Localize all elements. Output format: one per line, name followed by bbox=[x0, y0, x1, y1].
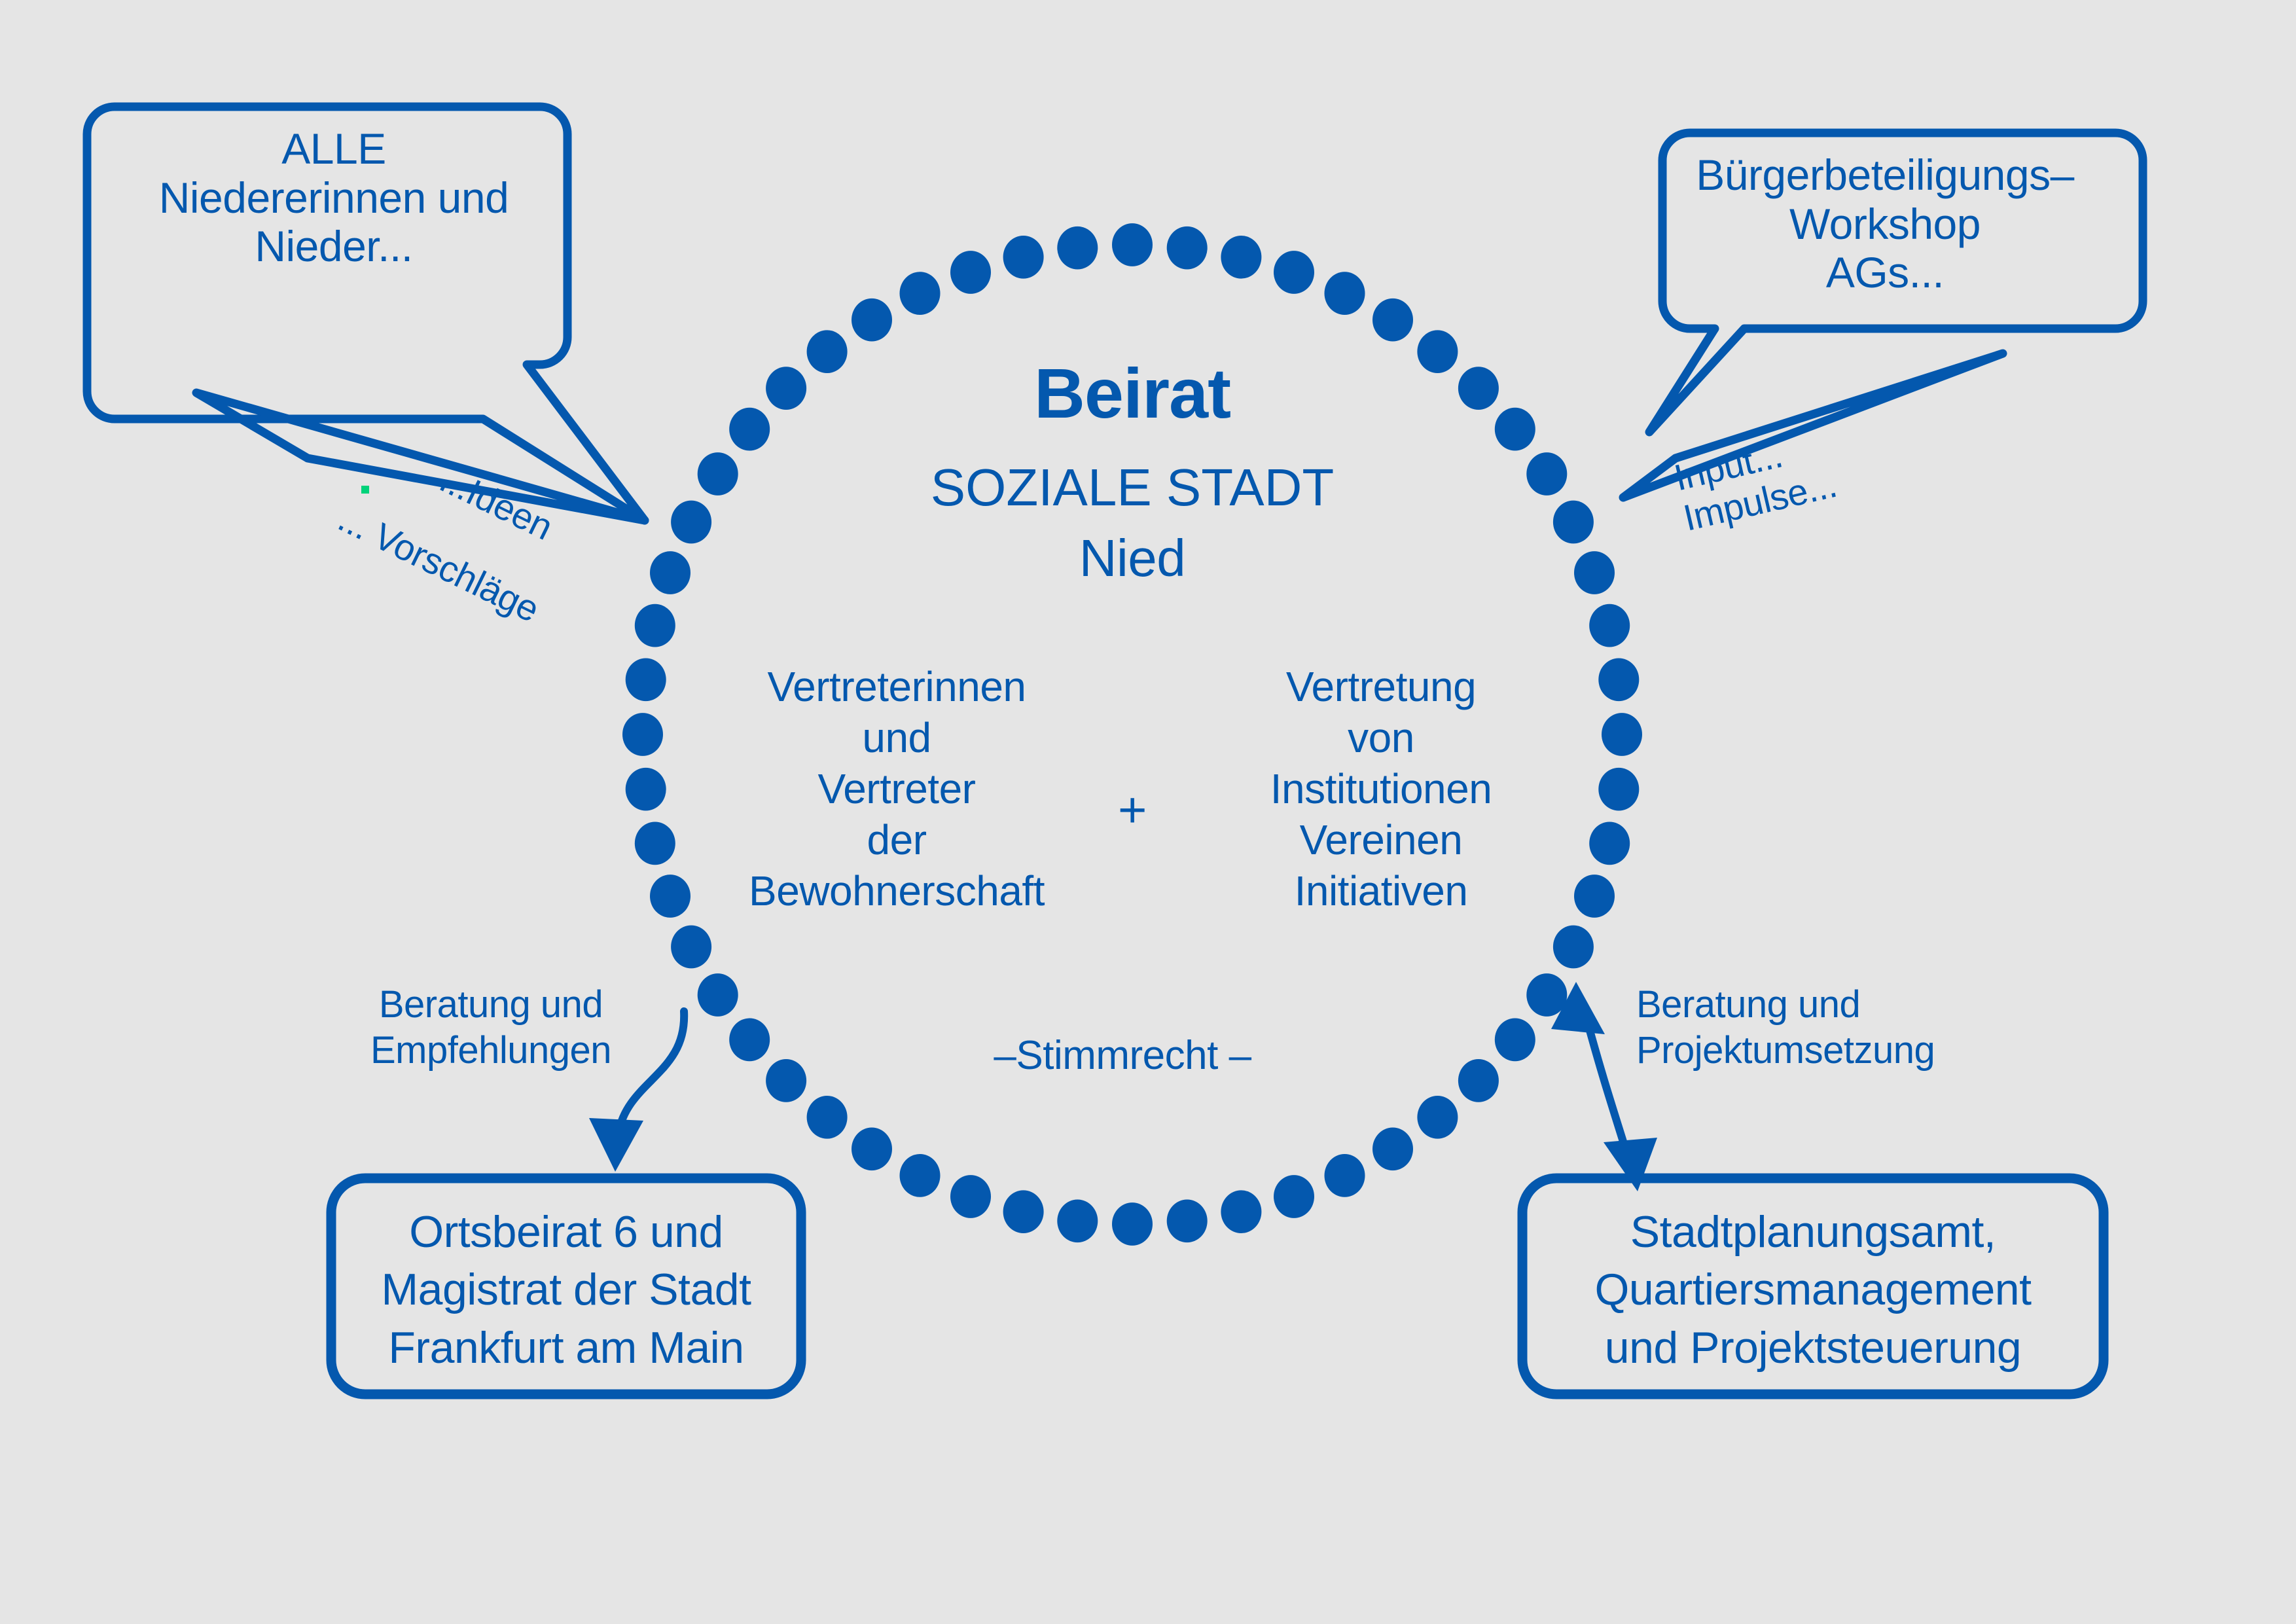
ring-dot bbox=[1221, 236, 1261, 279]
ring-dot bbox=[729, 1019, 770, 1062]
ring-dot bbox=[650, 551, 691, 594]
ring-dot bbox=[1221, 1190, 1261, 1233]
ring-dot bbox=[729, 408, 770, 451]
ring-dot bbox=[622, 713, 663, 756]
ring-dot bbox=[626, 658, 666, 701]
page-title: Beirat bbox=[805, 353, 1460, 433]
ring-dot bbox=[1003, 236, 1044, 279]
ring-dot bbox=[626, 768, 666, 811]
arrow-label-beratung-projektumsetzung: Beratung und Projektumsetzung bbox=[1636, 982, 1990, 1073]
ring-dot bbox=[698, 452, 738, 496]
ring-dot bbox=[766, 367, 806, 410]
ring-dot bbox=[1372, 298, 1413, 342]
ring-dot bbox=[1417, 1096, 1458, 1139]
green-square-marker bbox=[361, 486, 369, 494]
ring-dot bbox=[900, 1154, 941, 1197]
ring-dot bbox=[766, 1059, 806, 1102]
ring-dot bbox=[807, 1096, 848, 1139]
ring-dot bbox=[852, 1127, 892, 1170]
ring-dot bbox=[1589, 822, 1630, 865]
ring-dot bbox=[1325, 1154, 1365, 1197]
bubble-right-label: Bürgerbeteiligungs– Workshop AGs... bbox=[1662, 151, 2108, 297]
ring-dot bbox=[1526, 973, 1567, 1017]
ring-dot bbox=[1325, 272, 1365, 315]
ring-dot bbox=[1553, 926, 1594, 969]
bubble-left-label: ALLE Niedererinnen und Nieder... bbox=[98, 124, 569, 271]
circle-subtitle-line1: SOZIALE STADT bbox=[805, 458, 1460, 517]
arrow-label-beratung-empfehlungen: Beratung und Empfehlungen bbox=[340, 982, 641, 1073]
ring-dot bbox=[900, 272, 941, 315]
ring-dot bbox=[1589, 604, 1630, 647]
ring-dot bbox=[1167, 1199, 1208, 1242]
ring-dot bbox=[1598, 658, 1639, 701]
ring-dot bbox=[1458, 1059, 1499, 1102]
circle-subtitle-line2: Nied bbox=[805, 529, 1460, 588]
ring-dot bbox=[1167, 226, 1208, 270]
ring-dot bbox=[1003, 1190, 1044, 1233]
ring-dot bbox=[950, 251, 991, 294]
ring-dot bbox=[1495, 408, 1535, 451]
ring-dot bbox=[1553, 501, 1594, 544]
ring-dot bbox=[1458, 367, 1499, 410]
ring-dot bbox=[950, 1175, 991, 1218]
ring-dot bbox=[650, 875, 691, 918]
stimmrecht-label: –Stimmrecht – bbox=[936, 1033, 1309, 1079]
ring-dot bbox=[698, 973, 738, 1017]
box-right-label: Stadtplanungsamt, Quartiersmanagement un… bbox=[1532, 1203, 2094, 1377]
ring-dot bbox=[1112, 223, 1153, 266]
ring-dot bbox=[635, 822, 675, 865]
diagram-canvas: ALLE Niedererinnen und Nieder... Bürgerb… bbox=[0, 0, 2296, 1624]
ring-dot bbox=[1602, 713, 1642, 756]
ring-dot bbox=[1598, 768, 1639, 811]
circle-column-right: Vertretung von Institutionen Vereinen In… bbox=[1178, 661, 1584, 916]
ring-dot bbox=[1372, 1127, 1413, 1170]
plus-operator: + bbox=[1086, 782, 1178, 839]
ring-dot bbox=[1574, 551, 1615, 594]
ring-dot bbox=[1112, 1202, 1153, 1246]
ring-dot bbox=[1274, 251, 1314, 294]
ring-dot bbox=[635, 604, 675, 647]
ring-dot bbox=[671, 501, 711, 544]
ring-dot bbox=[852, 298, 892, 342]
ring-dot bbox=[671, 926, 711, 969]
circle-column-left: Vertreterinnen und Vertreter der Bewohne… bbox=[694, 661, 1100, 916]
ring-dot bbox=[1057, 226, 1098, 270]
box-left-label: Ortsbeirat 6 und Magistrat der Stadt Fra… bbox=[340, 1203, 792, 1377]
ring-dot bbox=[1274, 1175, 1314, 1218]
ring-dot bbox=[1057, 1199, 1098, 1242]
ring-dot bbox=[1526, 452, 1567, 496]
ring-dot bbox=[1495, 1019, 1535, 1062]
